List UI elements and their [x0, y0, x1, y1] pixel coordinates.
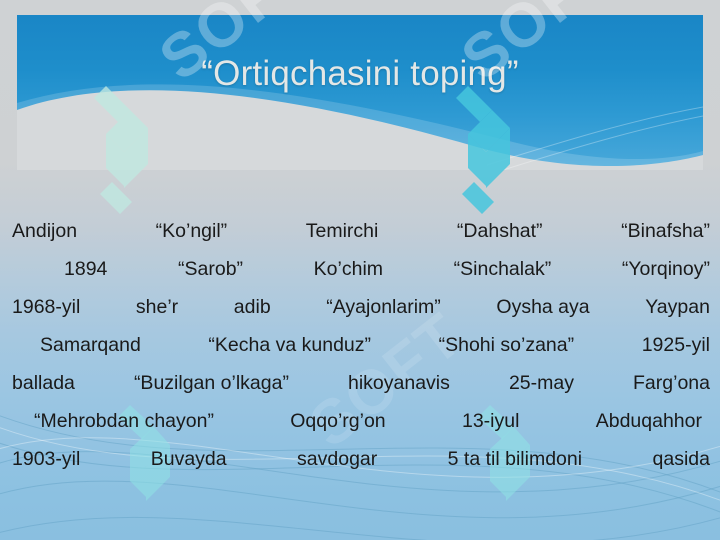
text-token: “Ayajonlarim”: [326, 288, 441, 326]
text-token: hikoyanavis: [348, 364, 450, 402]
text-token: Andijon: [12, 212, 77, 250]
text-token: 1925-yil: [642, 326, 710, 364]
text-token: “Shohi so’zana”: [439, 326, 575, 364]
text-token: 1894: [64, 250, 107, 288]
text-token: 1968-yil: [12, 288, 80, 326]
text-token: “Binafsha”: [621, 212, 710, 250]
text-token: Ko’chim: [314, 250, 383, 288]
text-token: Yaypan: [645, 288, 710, 326]
text-token: Oqqo’rg’on: [290, 402, 385, 440]
text-line: 1894 “Sarob” Ko’chim “Sinchalak” “Yorqin…: [12, 250, 710, 288]
text-token: “Ko’ngil”: [156, 212, 228, 250]
text-line: 1968-yil she’r adib “Ayajonlarim” Oysha …: [12, 288, 710, 326]
text-line: ballada “Buzilgan o’lkaga” hikoyanavis 2…: [12, 364, 710, 402]
text-token: “Dahshat”: [457, 212, 543, 250]
text-token: Farg’ona: [633, 364, 710, 402]
text-token: “Sarob”: [178, 250, 243, 288]
text-token: “Buzilgan o’lkaga”: [134, 364, 289, 402]
text-token: savdogar: [297, 440, 377, 478]
text-token: 5 ta til bilimdoni: [448, 440, 582, 478]
text-token: Abduqahhor: [596, 402, 702, 440]
text-token: 25-may: [509, 364, 574, 402]
text-token: 13-iyul: [462, 402, 519, 440]
text-token: Samarqand: [40, 326, 141, 364]
text-line: Samarqand “Kecha va kunduz” “Shohi so’za…: [12, 326, 710, 364]
text-token: “Kecha va kunduz”: [208, 326, 371, 364]
slide-canvas: “Ortiqchasini toping” SOFT SOFT SOFT: [0, 0, 720, 540]
text-token: Temirchi: [306, 212, 379, 250]
text-token: Buvayda: [151, 440, 227, 478]
text-token: “Yorqinoy”: [622, 250, 710, 288]
text-token: she’r: [136, 288, 178, 326]
text-token: “Sinchalak”: [454, 250, 552, 288]
text-line: 1903-yil Buvayda savdogar 5 ta til bilim…: [12, 440, 710, 478]
text-token: adib: [234, 288, 271, 326]
text-line: Andijon “Ko’ngil” Temirchi “Dahshat” “Bi…: [12, 212, 710, 250]
page-title: “Ortiqchasini toping”: [17, 15, 703, 133]
title-banner: “Ortiqchasini toping”: [17, 15, 703, 170]
text-line: “Mehrobdan chayon” Oqqo’rg’on 13-iyul Ab…: [12, 402, 710, 440]
text-token: “Mehrobdan chayon”: [34, 402, 214, 440]
text-token: ballada: [12, 364, 75, 402]
content-text-block: Andijon “Ko’ngil” Temirchi “Dahshat” “Bi…: [12, 212, 710, 478]
text-token: Oysha aya: [496, 288, 589, 326]
text-token: 1903-yil: [12, 440, 80, 478]
text-token: qasida: [653, 440, 710, 478]
